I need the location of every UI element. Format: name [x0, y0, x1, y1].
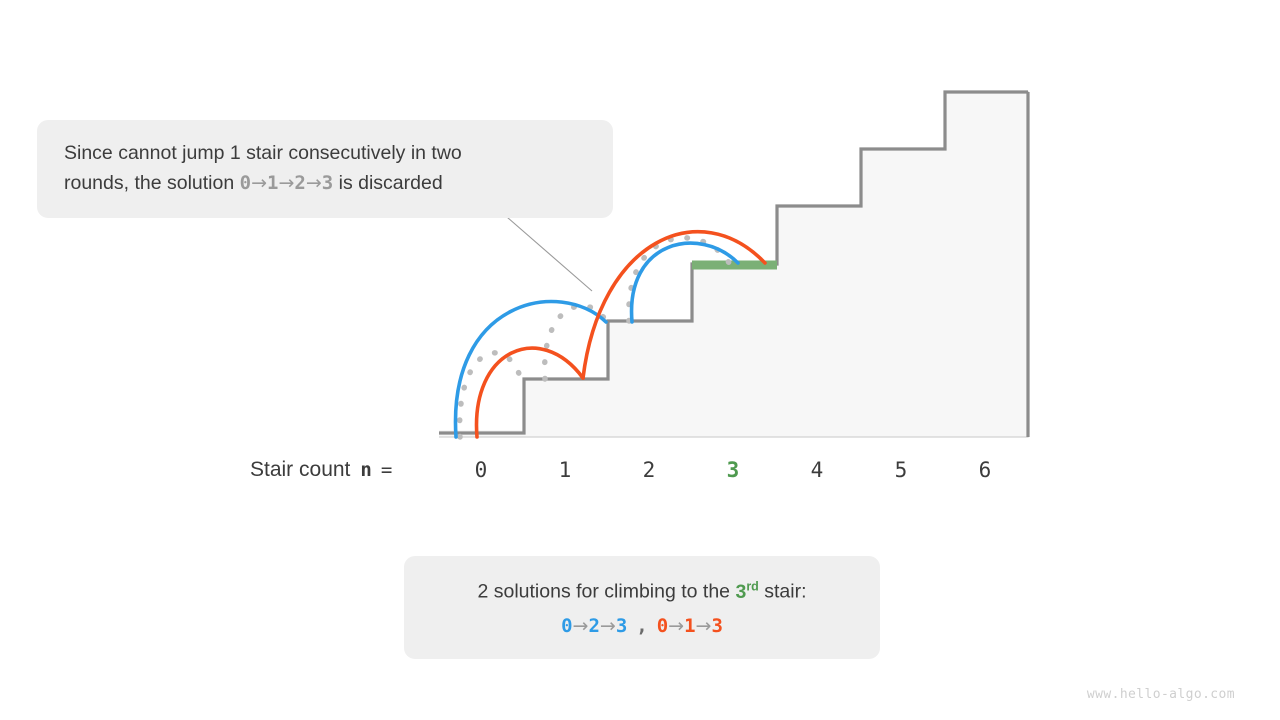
callout-seq-1: 1	[267, 172, 278, 194]
axis-equals: =	[381, 459, 392, 481]
caption-line-1-post: stair:	[759, 581, 807, 603]
callout-seq-0: 0	[240, 172, 251, 194]
solution-b-step-2: 3	[711, 615, 722, 637]
solution-a-step-2: 3	[616, 615, 627, 637]
callout-line-2-post: is discarded	[333, 172, 442, 194]
solutions-caption: 2 solutions for climbing to the 3rd stai…	[404, 556, 880, 659]
callout-arrow-1: →	[251, 172, 267, 194]
caption-ordinal-number: 3	[735, 581, 746, 603]
solution-a-arrow-2: →	[600, 615, 616, 637]
axis-variable: n	[360, 459, 371, 481]
caption-ordinal-suffix: rd	[746, 579, 759, 593]
axis-tick-1: 1	[545, 458, 585, 482]
solution-a-step-1: 2	[588, 615, 599, 637]
callout-seq-2: 2	[294, 172, 305, 194]
solution-a-arrow-1: →	[573, 615, 589, 637]
callout-arrow-2: →	[278, 172, 294, 194]
axis-tick-3: 3	[713, 458, 753, 482]
callout-leader-line	[500, 211, 592, 291]
dotted-arc-0-1	[460, 353, 521, 437]
callout-line-1: Since cannot jump 1 stair consecutively …	[64, 138, 587, 168]
solution-b-arrow-1: →	[668, 615, 684, 637]
axis-title: Stair countn=	[250, 458, 392, 482]
callout-line-2: rounds, the solution 0→1→2→3 is discarde…	[64, 168, 587, 198]
caption-ordinal: 3rd	[735, 581, 758, 603]
solution-a-step-0: 0	[561, 615, 572, 637]
solution-b-step-1: 1	[684, 615, 695, 637]
caption-line-2: 0→2→3,0→1→3	[404, 612, 880, 641]
site-watermark: www.hello-algo.com	[1087, 687, 1235, 702]
axis-tick-2: 2	[629, 458, 669, 482]
callout-arrow-3: →	[306, 172, 322, 194]
solution-b-arrow-2: →	[696, 615, 712, 637]
axis-tick-5: 5	[881, 458, 921, 482]
callout-line-2-pre: rounds, the solution	[64, 172, 240, 194]
caption-line-1-pre: 2 solutions for climbing to the	[477, 581, 735, 603]
solutions-separator: ,	[636, 615, 647, 637]
solution-b-step-0: 0	[657, 615, 668, 637]
callout-seq-3: 3	[322, 172, 333, 194]
axis-title-text: Stair count	[250, 458, 350, 481]
axis-tick-6: 6	[965, 458, 1005, 482]
axis-tick-4: 4	[797, 458, 837, 482]
caption-line-1: 2 solutions for climbing to the 3rd stai…	[404, 572, 880, 606]
axis-tick-0: 0	[461, 458, 501, 482]
discard-callout: Since cannot jump 1 stair consecutively …	[37, 120, 613, 218]
axis-label-row: Stair countn= 0 1 2 3 4 5 6	[0, 458, 1280, 494]
figure-canvas: Since cannot jump 1 stair consecutively …	[0, 0, 1280, 720]
